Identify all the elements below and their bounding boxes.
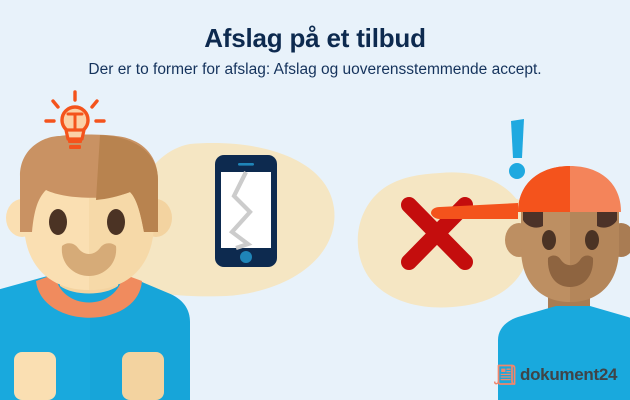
right-character-eye-right [585,230,599,250]
illustration-svg [0,0,630,400]
scroll-document-icon [494,362,518,388]
phone-speaker [238,163,254,166]
left-character-eye-left [49,209,67,235]
left-character-arm-left [14,352,56,400]
brand-logo-text: dokument24 [520,365,617,385]
left-character-arm-right [122,352,164,400]
right-character-eye-left [542,230,556,250]
broken-phone-icon [215,155,277,267]
phone-home-button [240,251,252,263]
brand-logo[interactable]: dokument24 [494,362,617,388]
illustration-canvas: Afslag på et tilbud Der er to former for… [0,0,630,400]
left-character-eye-right [107,209,125,235]
